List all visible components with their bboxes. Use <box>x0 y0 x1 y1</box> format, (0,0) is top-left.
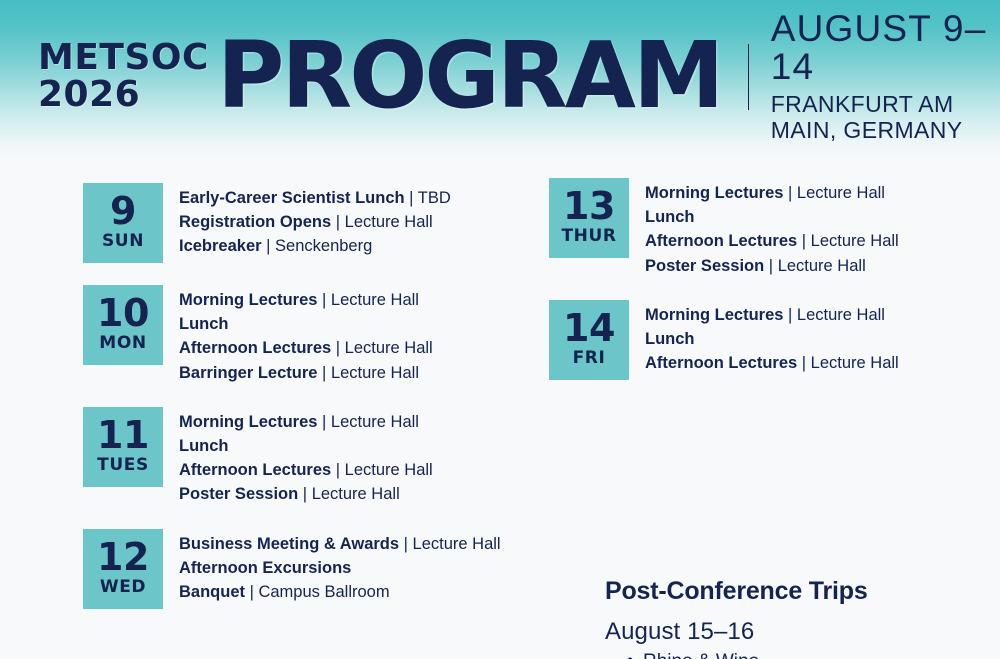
event-separator: | <box>399 535 412 553</box>
event-title: Poster Session <box>179 485 298 503</box>
day-badge-11: 11TUES <box>83 407 163 487</box>
event-title: Icebreaker <box>179 237 262 255</box>
day-weekday-abbreviation: MON <box>99 334 146 353</box>
event-line: Lunch <box>645 327 899 351</box>
header-content: METSOC 2026 PROGRAM AUGUST 9–14 FRANKFUR… <box>38 0 1000 158</box>
event-line: Morning Lectures | Lecture Hall <box>645 303 899 327</box>
event-venue: Lecture Hall <box>811 354 899 372</box>
event-separator: | <box>331 461 344 479</box>
event-line: Afternoon Lectures | Lecture Hall <box>179 336 433 360</box>
event-title: Afternoon Lectures <box>179 461 331 479</box>
event-line: Afternoon Lectures | Lecture Hall <box>179 458 433 482</box>
day-event-list: Morning Lectures | Lecture HallLunchAfte… <box>629 178 899 278</box>
day-badge-13: 13THUR <box>549 178 629 258</box>
event-dates: AUGUST 9–14 <box>771 10 1000 85</box>
event-separator: | <box>331 339 344 357</box>
brand-year: 2026 <box>38 77 209 112</box>
event-line: Morning Lectures | Lecture Hall <box>179 288 433 312</box>
event-line: Early-Career Scientist Lunch | TBD <box>179 186 451 210</box>
event-title: Barringer Lecture <box>179 364 317 382</box>
event-title: Morning Lectures <box>179 291 317 309</box>
event-line: Afternoon Lectures | Lecture Hall <box>645 351 899 375</box>
day-event-list: Early-Career Scientist Lunch | TBDRegist… <box>163 183 451 259</box>
day-entry-10: 10MONMorning Lectures | Lecture HallLunc… <box>83 285 543 385</box>
day-weekday-abbreviation: WED <box>100 578 146 597</box>
event-separator: | <box>317 413 330 431</box>
day-event-list: Morning Lectures | Lecture HallLunchAfte… <box>163 407 433 507</box>
event-separator: | <box>331 213 344 231</box>
day-badge-9: 9SUN <box>83 183 163 263</box>
day-badge-10: 10MON <box>83 285 163 365</box>
event-separator: | <box>764 257 777 275</box>
day-weekday-abbreviation: FRI <box>573 349 606 368</box>
event-location: FRANKFURT AM MAIN, GERMANY <box>771 91 1000 144</box>
event-line: Business Meeting & Awards | Lecture Hall <box>179 532 501 556</box>
event-title: Banquet <box>179 583 245 601</box>
event-title: Lunch <box>645 208 695 226</box>
trip-list: Rhine & Wine <box>605 649 995 659</box>
event-venue: Lecture Hall <box>413 535 501 553</box>
event-title: Early-Career Scientist Lunch <box>179 189 405 207</box>
event-separator: | <box>797 354 810 372</box>
event-title: Lunch <box>179 437 229 455</box>
event-venue: Lecture Hall <box>331 364 419 382</box>
event-title: Registration Opens <box>179 213 331 231</box>
day-event-list: Morning Lectures | Lecture HallLunchAfte… <box>629 300 899 376</box>
event-separator: | <box>262 237 275 255</box>
event-title: Lunch <box>179 315 229 333</box>
event-venue: Lecture Hall <box>331 291 419 309</box>
event-venue: Lecture Hall <box>778 257 866 275</box>
event-line: Lunch <box>179 312 433 336</box>
event-line: Poster Session | Lecture Hall <box>645 254 899 278</box>
day-number: 12 <box>97 538 149 577</box>
day-event-list: Morning Lectures | Lecture HallLunchAfte… <box>163 285 433 385</box>
brand-lockup: METSOC 2026 <box>38 40 209 119</box>
event-venue: Lecture Hall <box>312 485 400 503</box>
event-separator: | <box>783 306 796 324</box>
event-line: Banquet | Campus Ballroom <box>179 580 501 604</box>
day-weekday-abbreviation: THUR <box>561 227 616 246</box>
event-separator: | <box>317 364 330 382</box>
day-entry-12: 12WEDBusiness Meeting & Awards | Lecture… <box>83 529 543 609</box>
event-venue: Lecture Hall <box>345 339 433 357</box>
day-badge-12: 12WED <box>83 529 163 609</box>
day-number: 14 <box>563 309 615 348</box>
event-separator: | <box>317 291 330 309</box>
day-entry-13: 13THURMorning Lectures | Lecture HallLun… <box>549 178 969 278</box>
event-venue: Campus Ballroom <box>258 583 389 601</box>
schedule-column-left: 9SUNEarly-Career Scientist Lunch | TBDRe… <box>83 183 543 609</box>
day-number: 11 <box>97 416 149 455</box>
event-title: Afternoon Lectures <box>645 232 797 250</box>
event-line: Lunch <box>179 434 433 458</box>
event-venue: Lecture Hall <box>797 306 885 324</box>
schedule-column-right: 13THURMorning Lectures | Lecture HallLun… <box>549 178 969 380</box>
event-venue: Lecture Hall <box>345 213 433 231</box>
event-venue: Senckenberg <box>275 237 372 255</box>
post-conference-trips-heading: Post-Conference Trips <box>605 578 995 606</box>
event-line: Morning Lectures | Lecture Hall <box>179 410 433 434</box>
program-header-banner: METSOC 2026 PROGRAM AUGUST 9–14 FRANKFUR… <box>0 0 1000 158</box>
day-weekday-abbreviation: SUN <box>102 232 144 251</box>
event-title: Afternoon Excursions <box>179 559 351 577</box>
trip-group: August 15–16Rhine & Wine <box>605 618 995 659</box>
day-event-list: Business Meeting & Awards | Lecture Hall… <box>163 529 501 605</box>
event-line: Lunch <box>645 205 899 229</box>
day-weekday-abbreviation: TUES <box>97 456 149 475</box>
header-event-details: AUGUST 9–14 FRANKFURT AM MAIN, GERMANY <box>771 10 1000 147</box>
event-separator: | <box>405 189 418 207</box>
event-separator: | <box>245 583 258 601</box>
day-entry-11: 11TUESMorning Lectures | Lecture HallLun… <box>83 407 543 507</box>
post-conference-trips-section: Post-Conference Trips August 15–16Rhine … <box>605 578 995 659</box>
day-badge-14: 14FRI <box>549 300 629 380</box>
brand-name: METSOC <box>38 40 209 75</box>
event-venue: Lecture Hall <box>811 232 899 250</box>
event-title: Lunch <box>645 330 695 348</box>
event-line: Icebreaker | Senckenberg <box>179 234 451 258</box>
page-title: PROGRAM <box>217 30 722 128</box>
event-title: Business Meeting & Awards <box>179 535 399 553</box>
event-line: Morning Lectures | Lecture Hall <box>645 181 899 205</box>
trip-groups-container: August 15–16Rhine & WineAugust 15–17Eife… <box>605 618 995 659</box>
event-separator: | <box>298 485 311 503</box>
event-line: Poster Session | Lecture Hall <box>179 482 433 506</box>
event-line: Afternoon Excursions <box>179 556 501 580</box>
day-number: 9 <box>110 192 136 231</box>
header-divider-rule <box>748 44 749 110</box>
event-title: Poster Session <box>645 257 764 275</box>
event-separator: | <box>797 232 810 250</box>
event-line: Afternoon Lectures | Lecture Hall <box>645 229 899 253</box>
event-separator: | <box>783 184 796 202</box>
day-entry-14: 14FRIMorning Lectures | Lecture HallLunc… <box>549 300 969 380</box>
trip-date-range: August 15–16 <box>605 618 995 646</box>
day-number: 13 <box>563 187 615 226</box>
event-title: Afternoon Lectures <box>179 339 331 357</box>
event-line: Registration Opens | Lecture Hall <box>179 210 451 234</box>
event-venue: Lecture Hall <box>331 413 419 431</box>
day-entry-9: 9SUNEarly-Career Scientist Lunch | TBDRe… <box>83 183 543 263</box>
event-title: Morning Lectures <box>179 413 317 431</box>
trip-list-item: Rhine & Wine <box>627 649 995 659</box>
event-title: Afternoon Lectures <box>645 354 797 372</box>
program-body: 9SUNEarly-Career Scientist Lunch | TBDRe… <box>0 158 1000 659</box>
event-title: Morning Lectures <box>645 306 783 324</box>
event-venue: Lecture Hall <box>345 461 433 479</box>
day-number: 10 <box>97 294 149 333</box>
event-venue: Lecture Hall <box>797 184 885 202</box>
event-title: Morning Lectures <box>645 184 783 202</box>
event-line: Barringer Lecture | Lecture Hall <box>179 361 433 385</box>
event-venue: TBD <box>418 189 451 207</box>
